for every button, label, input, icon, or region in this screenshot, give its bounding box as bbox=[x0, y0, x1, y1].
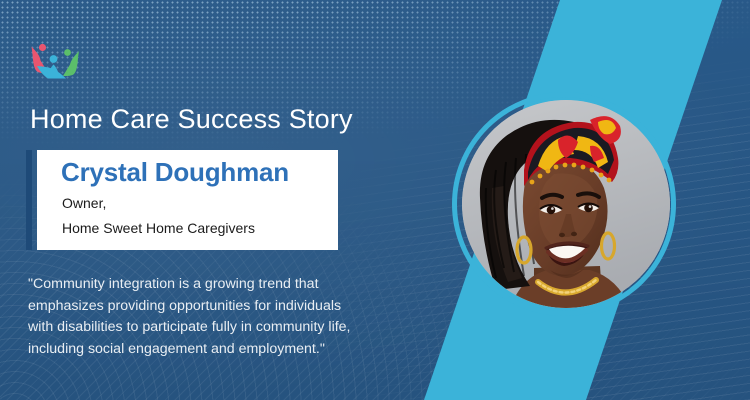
person-role: Owner, bbox=[62, 195, 106, 211]
crystal-doughman-portrait bbox=[462, 100, 670, 308]
name-card: Crystal Doughman Owner, Home Sweet Home … bbox=[26, 150, 338, 250]
page-title: Home Care Success Story bbox=[30, 104, 353, 135]
success-story-banner: Home Care Success Story Crystal Doughman… bbox=[0, 0, 750, 400]
quote-text: "Community integration is a growing tren… bbox=[28, 274, 363, 360]
name-card-sheet: Crystal Doughman Owner, Home Sweet Home … bbox=[37, 150, 338, 250]
person-company: Home Sweet Home Caregivers bbox=[62, 220, 255, 236]
person-name: Crystal Doughman bbox=[61, 157, 289, 188]
name-card-accent-bar bbox=[26, 150, 32, 250]
three-people-logo bbox=[26, 40, 84, 82]
